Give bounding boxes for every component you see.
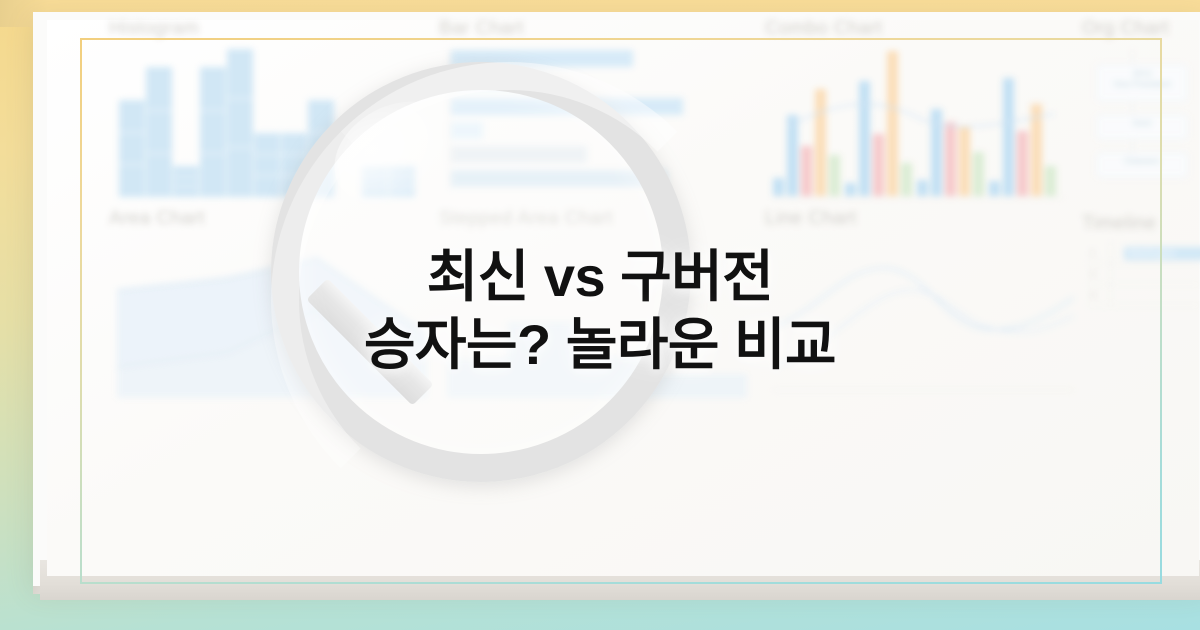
panel-combo-chart: Combo Chart [765, 18, 1075, 208]
org-node-0-role: Vice President [1113, 79, 1171, 89]
org-node-1-name: Kent [1133, 118, 1152, 128]
histogram-plot [119, 48, 409, 198]
panel-title-bar-chart: Bar Chart [439, 18, 759, 40]
org-node-1: Kent [1096, 114, 1188, 140]
panel-title-org-chart: Org Chart [1082, 18, 1200, 40]
org-node-2-name: Cleaners [1124, 156, 1160, 166]
panel-bar-chart: Bar Chart [439, 18, 759, 208]
headline-line-1: 최신 vs 구버전 [0, 243, 1200, 311]
headline-line-2: 승자는? 놀라운 비교 [0, 311, 1200, 379]
panel-histogram: Histogram [109, 18, 409, 208]
combo-chart-plot [773, 48, 1068, 196]
panel-title-area-chart: Area Chart [109, 208, 429, 230]
panel-title-stepped-area-chart: Stepped Area Chart [439, 208, 759, 230]
panel-title-line-chart: Line Chart [765, 208, 1085, 230]
combo-chart-trend-line [773, 48, 1068, 196]
poster-canvas: Histogram Bar Chart [0, 0, 1200, 630]
panel-org-chart: Org Chart Jerry Vice President Kent Clea… [1082, 18, 1200, 213]
panel-title-combo-chart: Combo Chart [765, 18, 1075, 40]
page-title: 최신 vs 구버전 승자는? 놀라운 비교 [0, 243, 1200, 380]
org-node-0: Jerry Vice President [1096, 64, 1188, 102]
org-node-0-name: Jerry [1132, 68, 1152, 78]
org-chart-plot: Jerry Vice President Kent Cleaners [1096, 50, 1200, 205]
panel-title-histogram: Histogram [109, 18, 409, 40]
org-node-2: Cleaners [1096, 152, 1188, 178]
bar-chart-plot [451, 50, 751, 195]
panel-title-timeline: Timeline [1082, 213, 1200, 235]
